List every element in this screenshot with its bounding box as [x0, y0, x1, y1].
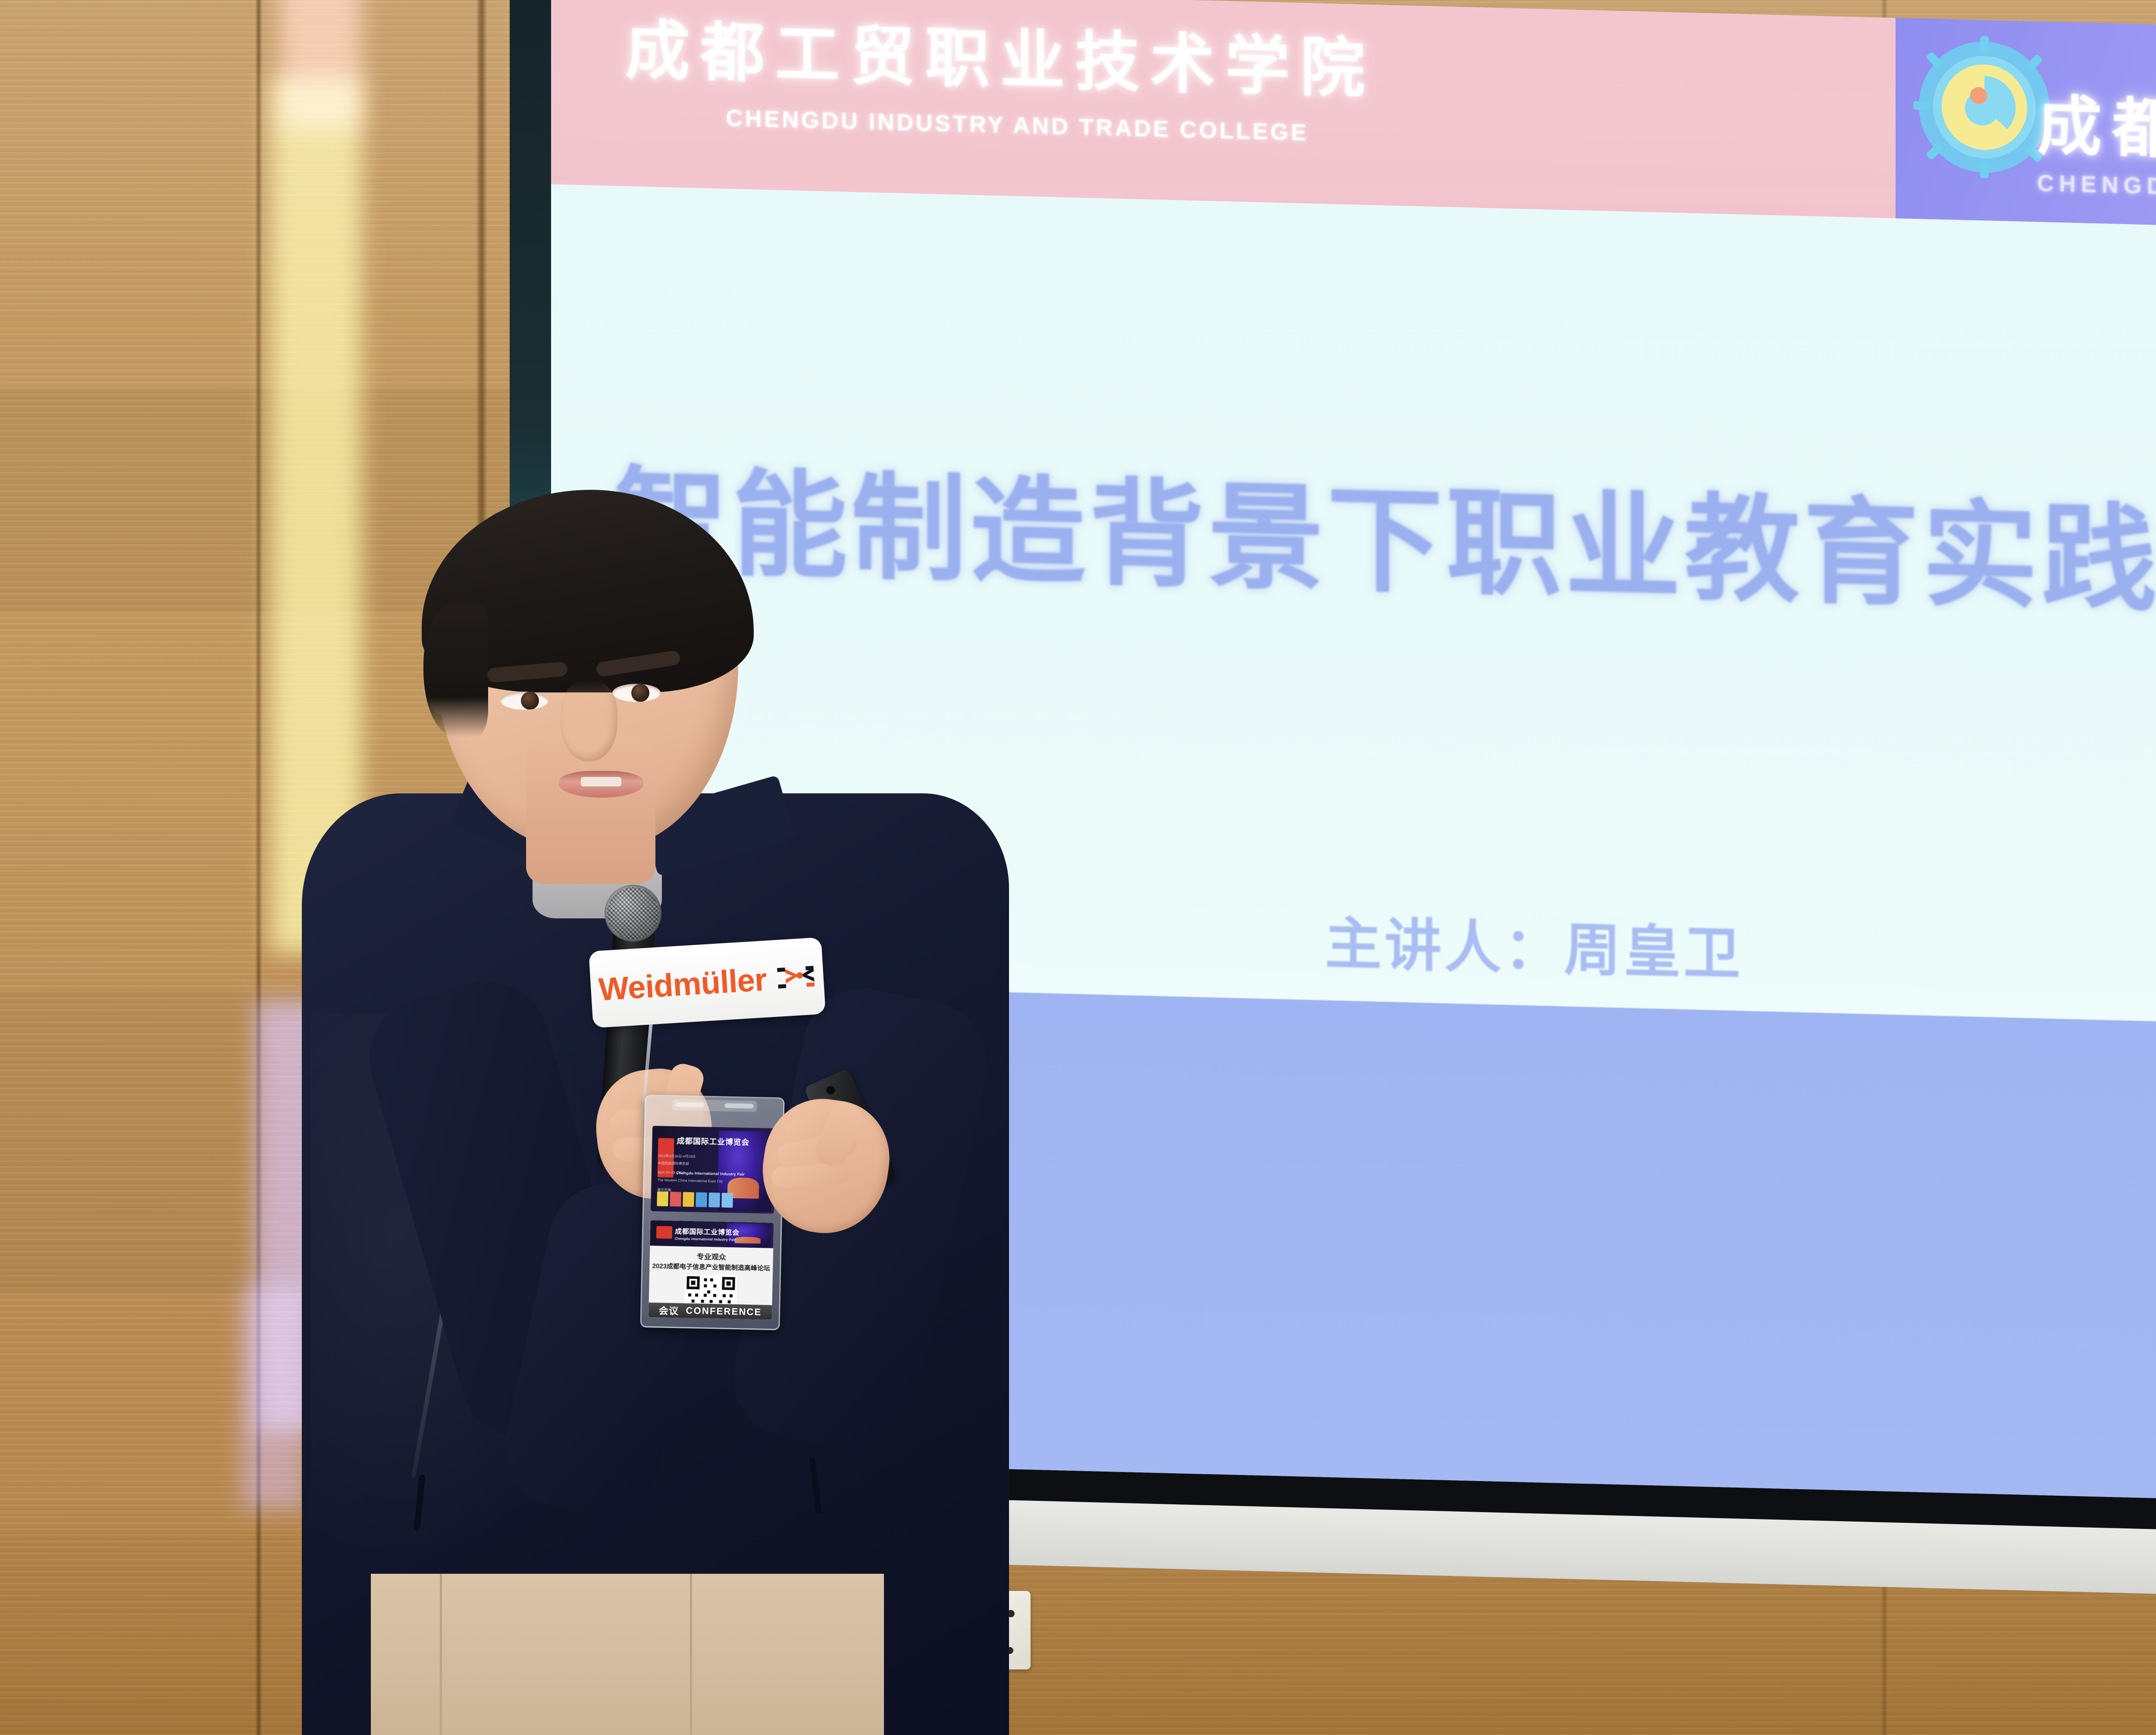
badge-footer-en: CONFERENCE — [686, 1305, 762, 1318]
eye-left — [500, 692, 548, 710]
weidmuller-wordmark: Weidmüller — [598, 961, 768, 1008]
college-name-cn: 成都工贸职业技术学院 — [625, 0, 1375, 110]
college-name-en: CHENGDU INDUSTRY AND TRADE COLLEGE — [726, 104, 1309, 146]
hair-sideburn — [423, 604, 488, 737]
microphone-flag-weidmuller: Weidmüller — [589, 937, 826, 1028]
badge-bottom-header: 成都国际工业博览会 Chengdu International Industry… — [650, 1220, 774, 1248]
microphone-head — [605, 885, 661, 942]
badge-bottom-panel: 成都国际工业博览会 Chengdu International Industry… — [649, 1220, 774, 1319]
badge-top-panel: 成都国际工业博览会 Chengdu International Industry… — [651, 1126, 776, 1214]
badge-fair-name-cn: 成都国际工业博览会 — [675, 1225, 740, 1237]
sector-chip — [696, 1192, 707, 1207]
badge-footer: 会议 CONFERENCE — [649, 1303, 772, 1320]
sector-chip — [708, 1193, 720, 1208]
wall-panel-seam — [255, 0, 262, 1735]
badge-fair-name-en: Chengdu International Industry Fair — [676, 1171, 745, 1176]
badge-footer-cn: 会议 — [659, 1303, 679, 1317]
weidmuller-logo-icon — [775, 962, 817, 993]
sector-chip — [683, 1192, 694, 1207]
photo-scene: 成都工贸职业技术学院 CHENGDU INDUSTRY AND TRADE CO… — [0, 0, 2156, 1735]
technician-college-name-en: CHENGDU TECHNICIAN COL — [2037, 170, 2156, 208]
presenter: Weidmüller 成都国际工业博览会 — [285, 496, 1044, 1735]
sector-chip — [657, 1191, 668, 1206]
slide-speaker-line: 主讲人：周皇卫 — [1325, 898, 1743, 991]
badge-fair-name-en: Chengdu International Industry Fair — [675, 1237, 736, 1242]
badge-clip — [672, 1099, 757, 1112]
badge-sector-chips — [657, 1191, 733, 1208]
badge-venue-cn: 中国西部国际博览城 — [658, 1161, 689, 1167]
khaki-trousers — [371, 1574, 884, 1735]
gear-emblem-icon — [1913, 34, 2056, 180]
badge-role: 专业观众 — [650, 1250, 774, 1263]
technician-college-name-cn: 成都市技师学 — [2037, 74, 2156, 179]
conference-badge: 成都国际工业博览会 Chengdu International Industry… — [640, 1095, 784, 1331]
nose — [561, 681, 617, 761]
mouth — [559, 771, 643, 798]
banner-college: 成都工贸职业技术学院 CHENGDU INDUSTRY AND TRADE CO… — [551, 0, 1896, 218]
fair-logo-icon — [656, 1226, 673, 1239]
teeth — [581, 777, 621, 786]
badge-date-cn: 2023年4月26日-4月29日 — [658, 1153, 696, 1159]
sector-chip — [670, 1192, 681, 1207]
banner-technician-college: 成都市技师学 CHENGDU TECHNICIAN COL — [1896, 18, 2156, 233]
badge-venue-en: The Western China International Expo Cit… — [658, 1178, 723, 1183]
badge-forum-title: 2023成都电子信息产业智能制造高峰论坛 — [649, 1261, 773, 1273]
eye-right — [612, 684, 661, 702]
badge-date-en: April 26–29, 2023 — [658, 1170, 685, 1174]
sector-chip — [721, 1193, 733, 1208]
badge-fair-name-cn: 成都国际工业博览会 — [677, 1135, 749, 1148]
